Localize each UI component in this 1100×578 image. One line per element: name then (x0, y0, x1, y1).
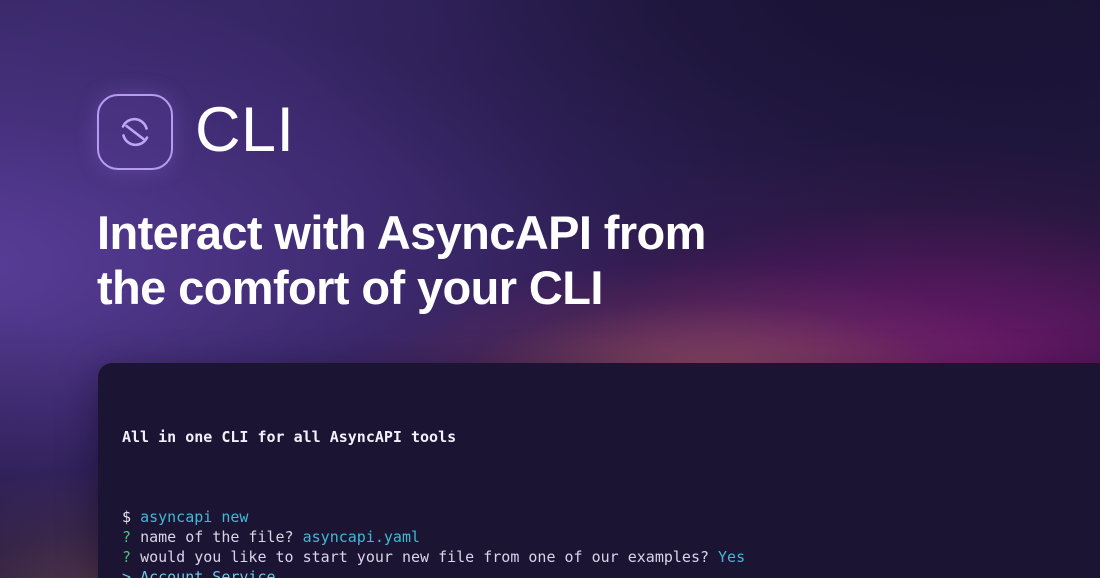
terminal-token-q: ? (122, 528, 140, 546)
terminal-token-plain: name of the file? (140, 528, 303, 546)
terminal-token-q: ? (122, 548, 140, 566)
terminal-token-val: asyncapi.yaml (303, 528, 420, 546)
terminal-line-option-selected: > Account Service (122, 567, 1100, 578)
terminal-token-prompt: $ (122, 508, 140, 526)
terminal-line-cmd-line: $ asyncapi new (122, 507, 1100, 527)
terminal-line-question-examples: ? would you like to start your new file … (122, 547, 1100, 567)
page-title: CLI (195, 99, 295, 162)
terminal-content: All in one CLI for all AsyncAPI tools $ … (98, 363, 1100, 578)
terminal-token-sel: Account Service (140, 568, 275, 578)
terminal-heading: All in one CLI for all AsyncAPI tools (122, 427, 1100, 447)
brand-row: CLI (97, 94, 295, 170)
terminal-line-question-filename: ? name of the file? asyncapi.yaml (122, 527, 1100, 547)
terminal-token-sel: > (122, 568, 140, 578)
terminal-token-cmd: asyncapi new (140, 508, 248, 526)
hero-headline: Interact with AsyncAPI from the comfort … (97, 206, 797, 315)
terminal-output: $ asyncapi new? name of the file? asynca… (122, 507, 1100, 578)
terminal-window: All in one CLI for all AsyncAPI tools $ … (98, 363, 1100, 578)
cli-landing-hero: CLI Interact with AsyncAPI from the comf… (0, 0, 1100, 578)
terminal-token-val: Yes (718, 548, 745, 566)
asyncapi-logo-icon (97, 94, 173, 170)
terminal-token-plain: would you like to start your new file fr… (140, 548, 718, 566)
